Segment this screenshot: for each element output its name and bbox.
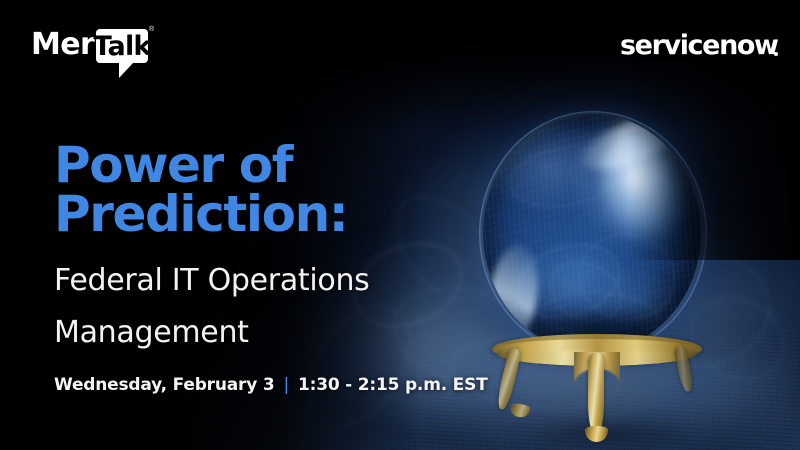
meritalk-logo[interactable]: Meri Talk ® — [31, 27, 156, 79]
event-separator: | — [283, 375, 289, 395]
stand-foot-left — [509, 402, 531, 418]
stand-leg-center — [588, 353, 604, 435]
webinar-promo-banner: Meri Talk ® servicenow Power of Predicti… — [0, 0, 800, 450]
event-datetime: Wednesday, February 3|1:30 - 2:15 p.m. E… — [54, 374, 488, 396]
page-title: Power of Prediction: — [54, 141, 347, 239]
event-date: Wednesday, February 3 — [54, 375, 274, 395]
speech-bubble-icon: Talk — [96, 29, 148, 63]
registered-trademark-icon: ® — [149, 26, 154, 33]
servicenow-trademark-dot-icon — [774, 52, 778, 56]
page-subtitle: Federal IT Operations Management — [54, 255, 370, 359]
stand-leg-left — [495, 347, 522, 410]
event-time: 1:30 - 2:15 p.m. EST — [298, 375, 488, 395]
meritalk-logo-talk: Talk — [96, 29, 148, 63]
servicenow-logo[interactable]: servicenow — [620, 31, 775, 61]
servicenow-wordmark: servicenow — [620, 31, 778, 61]
speech-bubble-tail-icon — [119, 62, 134, 78]
brass-stand-icon — [486, 334, 708, 440]
